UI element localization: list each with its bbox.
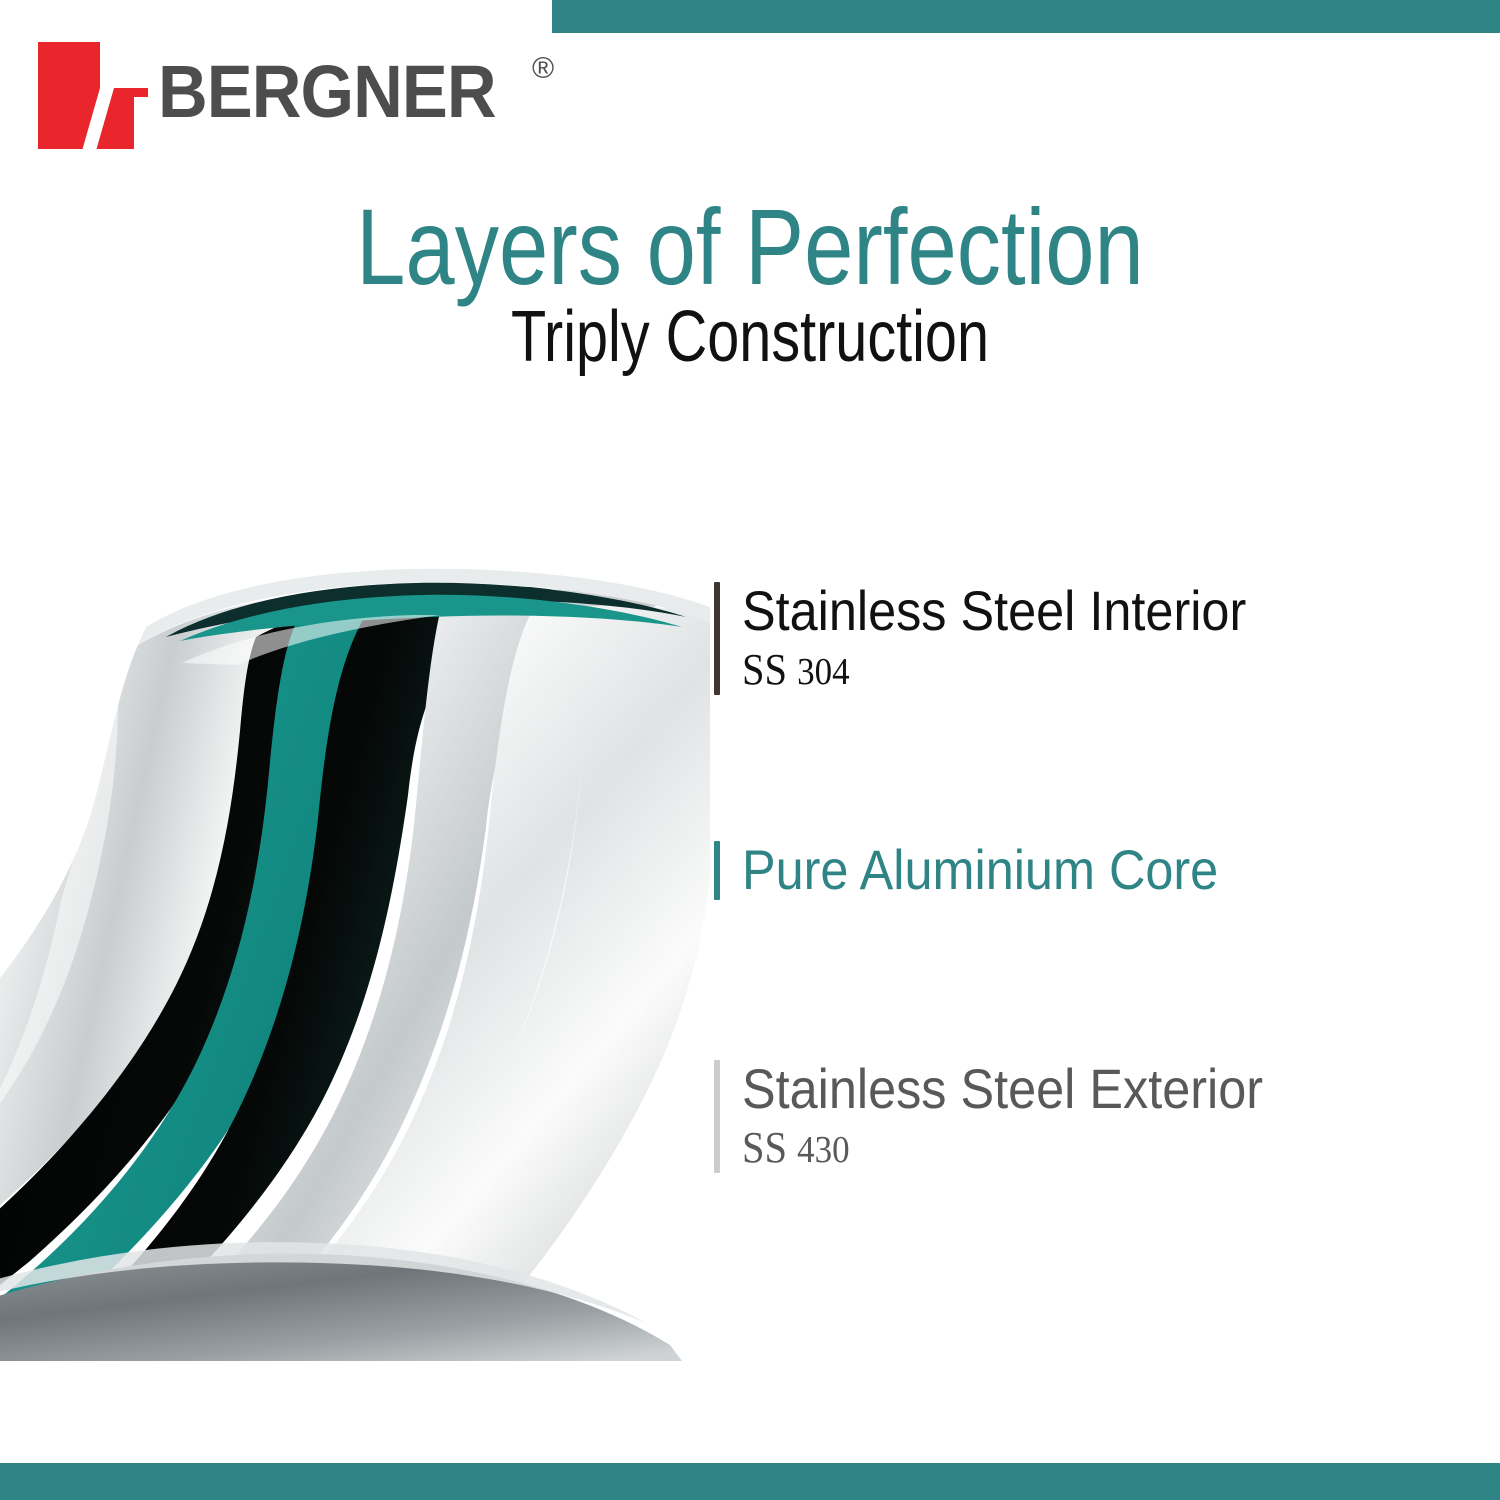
callout-sub-value: 430 [797,1129,849,1171]
callout-subtitle: SS 430 [742,1123,1275,1174]
logo-notch-diagonal [83,88,114,149]
logo-notch-right [134,97,148,149]
bottom-teal-accent-bar [0,1463,1500,1500]
registered-trademark-icon: ® [532,54,554,84]
brand-logo: BERGNER ® [38,42,538,152]
brand-wordmark: BERGNER [158,55,496,129]
callout-body: Stainless Steel Interior SS 304 [720,582,1302,695]
callout-title: Stainless Steel Interior [742,582,1246,641]
callout-sub-label: SS [742,1123,787,1172]
bergner-logo-mark-icon [38,42,148,149]
callout-stainless-steel-interior: Stainless Steel Interior SS 304 [714,582,1302,695]
poster-canvas: BERGNER ® Layers of Perfection Triply Co… [0,0,1500,1500]
callout-stainless-steel-exterior: Stainless Steel Exterior SS 430 [714,1060,1321,1173]
callout-subtitle: SS 304 [742,645,1257,696]
callout-body: Pure Aluminium Core [720,841,1271,900]
top-teal-accent-bar [552,0,1500,33]
product-cutaway-illustration [0,545,710,1365]
callout-title: Pure Aluminium Core [742,841,1218,900]
callout-sub-label: SS [742,645,787,694]
callout-sub-value: 304 [797,651,849,693]
callout-body: Stainless Steel Exterior SS 430 [720,1060,1321,1173]
logo-notch-top [100,42,148,88]
callout-pure-aluminium-core: Pure Aluminium Core [714,841,1271,900]
callout-title: Stainless Steel Exterior [742,1060,1263,1119]
page-subtitle: Triply Construction [150,300,1350,376]
page-title: Layers of Perfection [135,192,1365,302]
